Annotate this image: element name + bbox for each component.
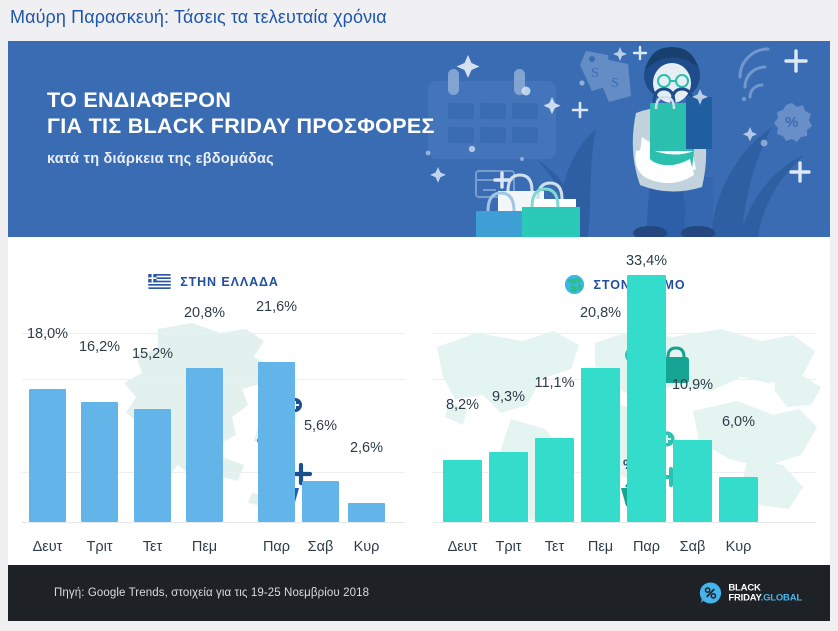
bar-greece-1 — [81, 402, 118, 522]
greek-flag-icon — [148, 274, 171, 289]
value-label-world-3: 20,8% — [568, 305, 633, 321]
axis-baseline — [22, 522, 405, 523]
bar-world-2 — [535, 438, 574, 522]
value-label-world-1: 9,3% — [476, 389, 541, 405]
infographic-card: S S % — [8, 41, 830, 621]
panel-title-greece: ΣΤΗΝ ΕΛΛΑΔΑ — [180, 275, 279, 289]
value-label-world-6: 6,0% — [706, 414, 771, 430]
bar-world-1 — [489, 452, 528, 522]
chart-panel-world: ΣΤΟΝ ΚΟΣΜΟ — [419, 237, 830, 565]
svg-text:S: S — [591, 66, 599, 81]
panel-header-greece: ΣΤΗΝ ΕΛΛΑΔΑ — [8, 274, 419, 289]
bar-chart-greece: % — [8, 307, 419, 565]
page-title: Μαύρη Παρασκευή: Τάσεις τα τελευταία χρό… — [10, 7, 387, 28]
gridline — [433, 379, 816, 380]
axis-baseline — [433, 522, 816, 523]
bar-greece-6 — [348, 503, 385, 522]
bar-greece-5 — [302, 481, 339, 522]
brand-logo[interactable]: BLACK FRIDAY.GLOBAL — [699, 582, 802, 605]
hero-subtitle: κατά τη διάρκεια της εβδομάδας — [47, 151, 435, 167]
svg-text:S: S — [611, 76, 619, 91]
footer-bar: Πηγή: Google Trends, στοιχεία για τις 19… — [8, 565, 830, 621]
value-label-greece-6: 2,6% — [334, 440, 399, 456]
hero-headline-line2: ΓΙΑ ΤΙΣ BLACK FRIDAY ΠΡΟΣΦΟΡΕΣ — [47, 113, 435, 139]
bar-greece-2 — [134, 409, 171, 522]
bar-greece-3 — [186, 368, 223, 522]
category-label-greece-6: Κυρ — [336, 539, 397, 555]
svg-text:%: % — [785, 114, 798, 131]
bar-greece-4 — [258, 362, 295, 522]
logo-line2-blue: .GLOBAL — [761, 592, 802, 603]
chart-panel-greece: ΣΤΗΝ ΕΛΛΑΔΑ — [8, 237, 419, 565]
hero-headline-line1: ΤΟ ΕΝΔΙΑΦΕΡΟΝ — [47, 87, 435, 113]
percent-badge-icon — [699, 582, 722, 605]
value-label-greece-5: 5,6% — [288, 418, 353, 434]
shopper-illustration: S S % — [410, 41, 830, 237]
hero-banner: S S % — [8, 41, 830, 237]
category-label-greece-1: Τριτ — [69, 539, 130, 555]
value-label-greece-4: 21,6% — [244, 299, 309, 315]
charts-section: ΣΤΗΝ ΕΛΛΑΔΑ — [8, 237, 830, 565]
bar-world-6 — [719, 477, 758, 522]
bar-world-3 — [581, 368, 620, 522]
bar-chart-world: % % — [419, 307, 830, 565]
logo-line2-white: FRIDAY — [728, 592, 760, 603]
bar-world-5 — [673, 440, 712, 522]
gridline — [433, 333, 816, 334]
hero-text-block: ΤΟ ΕΝΔΙΑΦΕΡΟΝ ΓΙΑ ΤΙΣ BLACK FRIDAY ΠΡΟΣΦ… — [47, 87, 435, 167]
category-label-greece-3: Πεμ — [174, 539, 235, 555]
category-label-world-6: Κυρ — [708, 539, 769, 555]
source-note: Πηγή: Google Trends, στοιχεία για τις 19… — [54, 587, 369, 599]
bar-world-0 — [443, 460, 482, 522]
bar-greece-0 — [29, 389, 66, 522]
logo-wordmark: BLACK FRIDAY.GLOBAL — [728, 584, 802, 603]
panel-header-world: ΣΤΟΝ ΚΟΣΜΟ — [419, 274, 830, 295]
value-label-greece-2: 15,2% — [120, 346, 185, 362]
value-label-world-5: 10,9% — [660, 377, 725, 393]
value-label-world-4: 33,4% — [614, 253, 679, 269]
value-label-greece-3: 20,8% — [172, 305, 237, 321]
value-label-world-2: 11,1% — [522, 375, 587, 391]
globe-icon — [564, 274, 585, 295]
